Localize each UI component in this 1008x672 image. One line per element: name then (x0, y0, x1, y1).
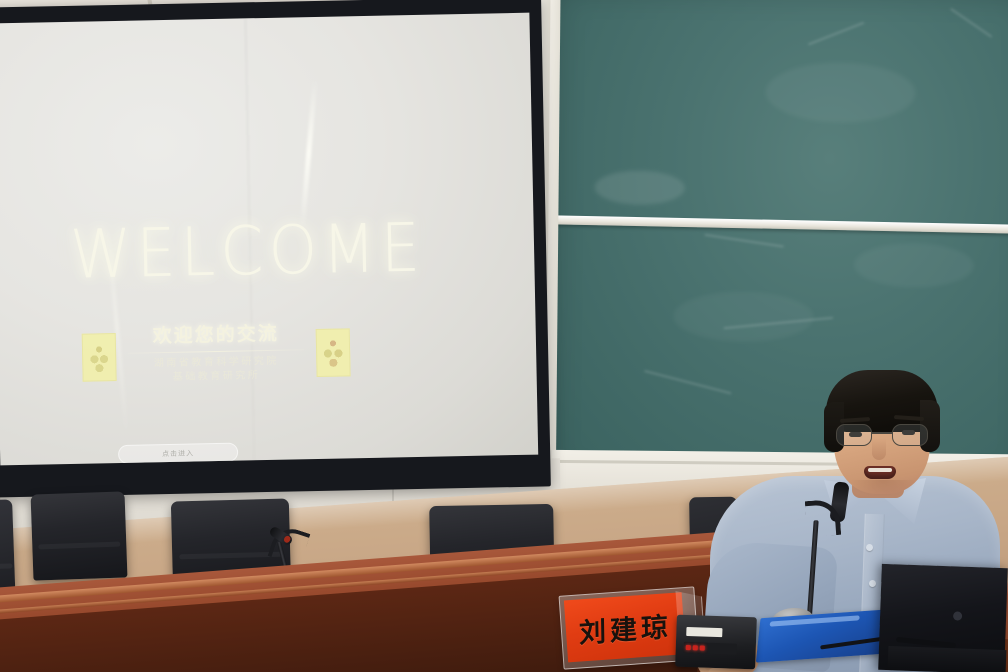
slide-subtitle-row: 欢迎您的交流 湖南省教育科学研究院 基础教育研究所 (81, 316, 350, 393)
seal-emblem-left-icon (82, 333, 117, 382)
slide-subtitle: 欢迎您的交流 (122, 323, 310, 348)
microphone-indicator-panel (684, 642, 737, 655)
projection-screen-surface: WELCOME 欢迎您的交流 湖南省教育科学研究院 基础教育研究所 点击进入 (0, 13, 538, 466)
speaker-nose (872, 438, 886, 460)
speaker-chin-shadow (848, 480, 918, 498)
slide-org-line-2: 基础教育研究所 (122, 369, 310, 387)
microphone-led (686, 645, 691, 650)
name-card: 刘建琼 (564, 592, 686, 662)
conference-room-photo: WELCOME 欢迎您的交流 湖南省教育科学研究院 基础教育研究所 点击进入 (0, 0, 1008, 672)
projection-screen-assembly: WELCOME 欢迎您的交流 湖南省教育科学研究院 基础教育研究所 点击进入 (0, 0, 551, 498)
desk-microphone-speaker[interactable] (675, 615, 757, 670)
chalk-smudge (673, 291, 813, 342)
chalk-smudge (594, 170, 684, 205)
chalk-streak (704, 234, 783, 248)
shirt-button (866, 544, 873, 551)
blue-folder-highlight (770, 616, 860, 627)
eyeglass-lens-left (836, 424, 872, 446)
chalk-smudge (854, 243, 974, 288)
chalk-smudge (765, 62, 916, 123)
laptop-logo-icon (953, 611, 962, 620)
slide-enter-button[interactable]: 点击进入 (118, 443, 238, 464)
slide-divider (128, 349, 304, 354)
laptop-hinge (888, 646, 1007, 672)
chalk-streak (950, 8, 992, 38)
screen-highlight (300, 79, 318, 229)
seal-emblem-right-icon (316, 328, 351, 377)
name-card-text: 刘建琼 (578, 605, 671, 651)
shirt-button (869, 580, 876, 587)
speaker-mouth (864, 466, 896, 479)
eyeglass-lens-right (892, 424, 928, 446)
chair-1 (31, 491, 128, 580)
microphone-label (686, 627, 723, 637)
chalk-streak (808, 22, 865, 46)
slide-subtitle-block: 欢迎您的交流 湖南省教育科学研究院 基础教育研究所 (116, 323, 317, 387)
slide-title: WELCOME (69, 208, 425, 294)
microphone-led (700, 646, 705, 651)
blue-folder (756, 609, 888, 662)
microphone-led (693, 645, 698, 650)
eyeglass-bridge (872, 432, 892, 434)
